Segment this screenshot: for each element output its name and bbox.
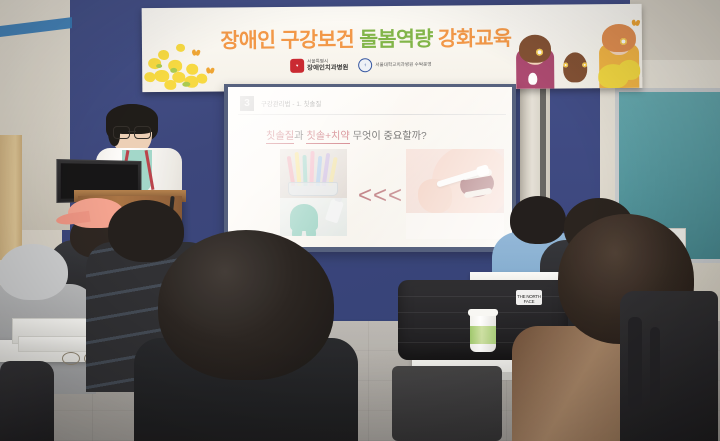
banner-logo-row: ♥ 서울특별시 장애인치과병원 ⚕ 서울대학교치과병원 수탁운영 [290,58,432,74]
slide-title-seg-4: 무엇이 중요할까? [350,131,427,142]
chair-right-front [392,366,502,441]
tooth-model-icon [290,204,318,231]
slide-section-label: 구강관리법 - 1. 칫솔질 [261,99,321,108]
paper-coffee-cup [470,312,496,352]
toothbrushes-in-cup-photo [280,149,347,198]
butterfly-icon [632,20,639,26]
slide-arrows: <<< [358,182,403,210]
attendee-foreground-center [140,230,350,441]
projected-slide: 3 구강관리법 - 1. 칫솔질 칫솔질과 칫솔+치약 무엇이 중요할까? <<… [228,87,512,247]
slide-title-seg-3: 칫솔+치약 [306,131,349,144]
logo2-line1: 서울대학교치과병원 [375,62,413,67]
illustrated-woman-left [514,27,557,89]
banner-title: 장애인 구강보건 돌봄역량 강화교육 [166,20,566,53]
slide-section-header: 3 구강관리법 - 1. 칫솔질 [240,96,321,111]
logo1-line1: 서울특별시 [307,59,328,64]
banner-title-part-2: 돌봄역량 [354,28,438,52]
logo-seoul-disability-dental-hospital: ♥ 서울특별시 장애인치과병원 [290,58,348,73]
illustrated-woman-right [596,18,643,88]
person-brushing-teeth-photo [406,149,504,239]
slide-divider [238,114,506,115]
logo-snu-dental-hospital: ⚕ 서울대학교치과병원 수탁운영 [358,58,431,73]
snu-dental-mark-icon: ⚕ [358,59,372,73]
cup-label [470,326,496,344]
cup-lid [468,309,498,316]
wooden-door-edge [0,135,22,260]
handout-box-2 [18,336,88,352]
seminar-photo-scene: 안내 장애인 구강보건 돌봄역량 강화교육 ♥ [0,0,720,441]
slide-title-seg-1: 칫솔질 [266,131,294,144]
seoul-city-mark-icon: ♥ [290,59,304,73]
slide-title-seg-2: 과 [294,131,306,142]
banner-title-part-3: 강화교육 [438,27,512,51]
illustrated-woman-middle [562,50,588,88]
attendee-head [158,230,334,380]
toothpaste-tube-icon [325,199,344,224]
banner-title-part-1: 장애인 구강보건 [220,28,354,52]
wheelchair-frame-left [0,361,54,441]
slide-title: 칫솔질과 칫솔+치약 무엇이 중요할까? [266,127,427,142]
presenter-glasses-icon [113,126,151,137]
slide-section-number: 3 [240,96,254,111]
attendee-head [0,244,68,300]
event-banner: 장애인 구강보건 돌봄역량 강화교육 ♥ 서울특별시 장애인치과병원 ⚕ 서울대… [142,4,643,92]
projection-screen-frame: 3 구강관리법 - 1. 칫솔질 칫솔질과 칫솔+치약 무엇이 중요할까? <<… [224,84,516,252]
black-backpack [620,291,718,441]
logo1-line2: 장애인치과병원 [307,65,348,74]
logo2-line2: 수탁운영 [415,62,432,67]
butterfly-icon [206,68,213,74]
